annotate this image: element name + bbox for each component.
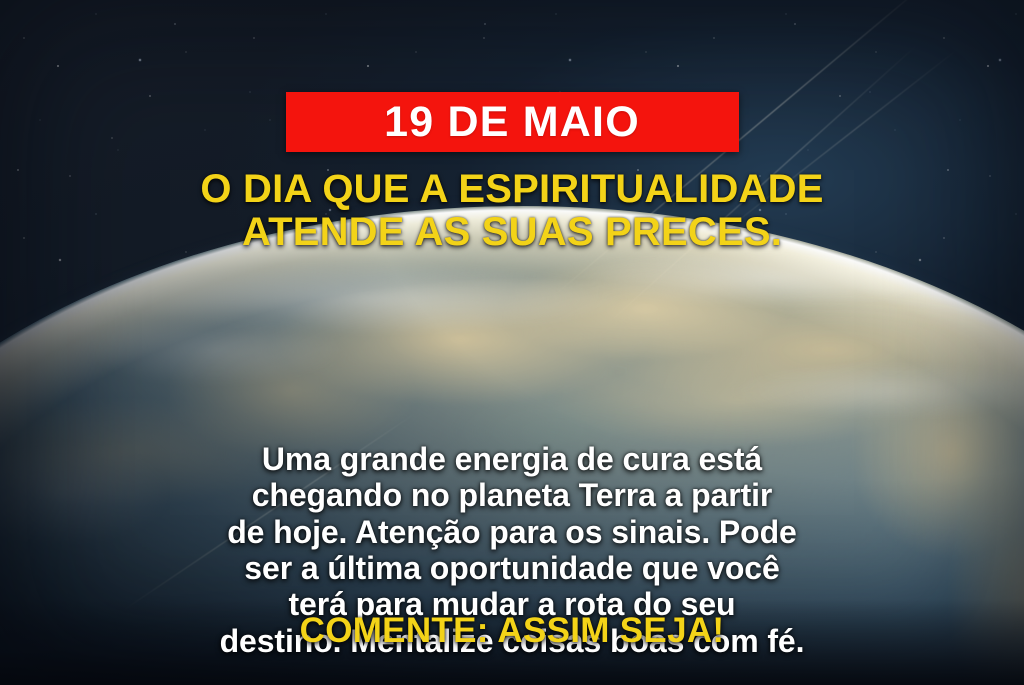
headline: O DIA QUE A ESPIRITUALIDADE ATENDE AS SU…: [62, 168, 962, 254]
call-to-action-text: COMENTE: ASSIM SEJA!: [0, 613, 1024, 648]
body-line-2: chegando no planeta Terra a partir: [252, 477, 773, 513]
headline-line-2: ATENDE AS SUAS PRECES.: [62, 211, 962, 254]
date-banner: 19 DE MAIO: [286, 92, 739, 152]
body-line-1: Uma grande energia de cura está: [262, 441, 762, 477]
poster-canvas: 19 DE MAIO O DIA QUE A ESPIRITUALIDADE A…: [0, 0, 1024, 685]
body-line-3: de hoje. Atenção para os sinais. Pode: [227, 514, 797, 550]
headline-line-1: O DIA QUE A ESPIRITUALIDADE: [62, 168, 962, 211]
body-line-4: ser a última oportunidade que você: [244, 550, 779, 586]
poster-content: 19 DE MAIO O DIA QUE A ESPIRITUALIDADE A…: [0, 0, 1024, 685]
date-banner-text: 19 DE MAIO: [384, 101, 640, 144]
